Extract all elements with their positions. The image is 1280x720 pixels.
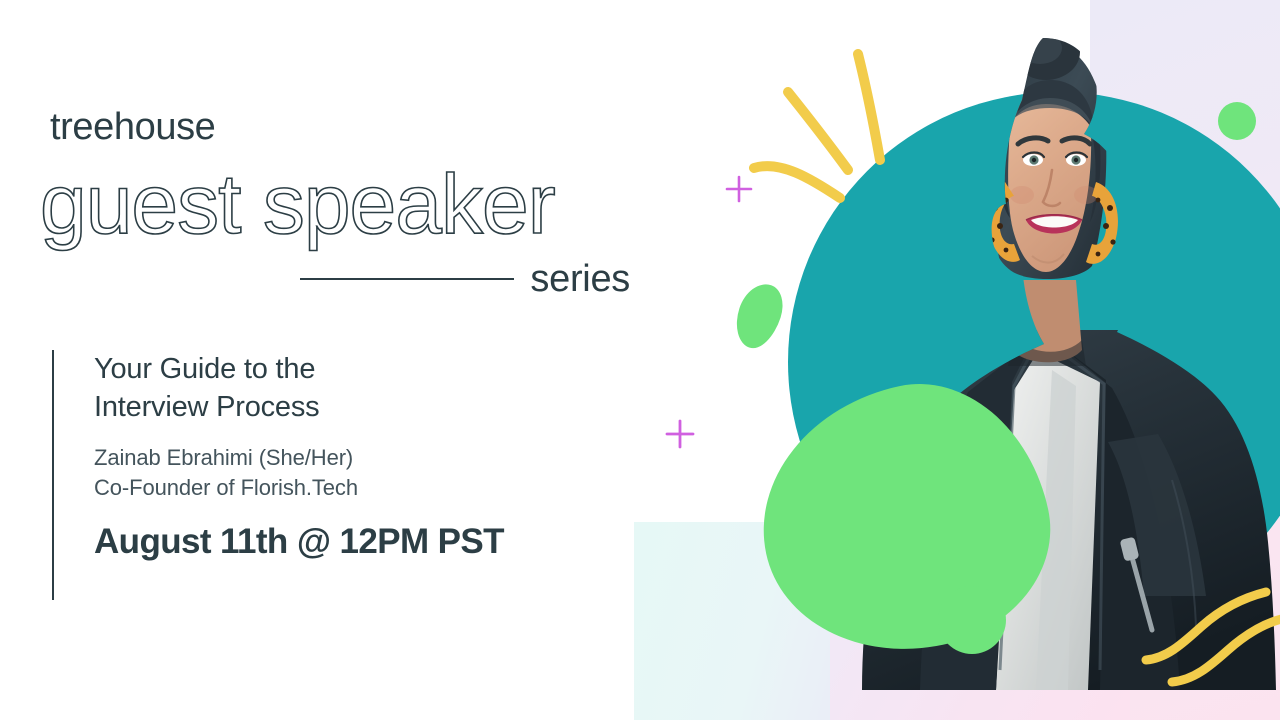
treehouse-wordmark: treehouse	[50, 108, 215, 146]
talk-title: Your Guide to the Interview Process	[94, 350, 504, 427]
speaker-role: Co-Founder of Florish.Tech	[94, 473, 504, 503]
event-datetime: August 11th @ 12PM PST	[94, 523, 504, 562]
series-row: series	[300, 256, 630, 302]
guest-speaker-slide: treehouse guest speaker series Your Guid…	[0, 0, 1280, 720]
speaker-name: Zainab Ebrahimi (She/Her)	[94, 443, 504, 473]
headline-guest-speaker: guest speaker	[40, 160, 555, 248]
green-circle-bottom	[938, 586, 1006, 654]
talk-details-block: Your Guide to the Interview Process Zain…	[52, 350, 504, 600]
green-blob-small	[729, 278, 789, 354]
series-divider-rule	[300, 278, 514, 280]
series-label: series	[530, 260, 630, 298]
magenta-plus-icon	[664, 418, 696, 450]
magenta-plus-icon	[724, 174, 754, 204]
